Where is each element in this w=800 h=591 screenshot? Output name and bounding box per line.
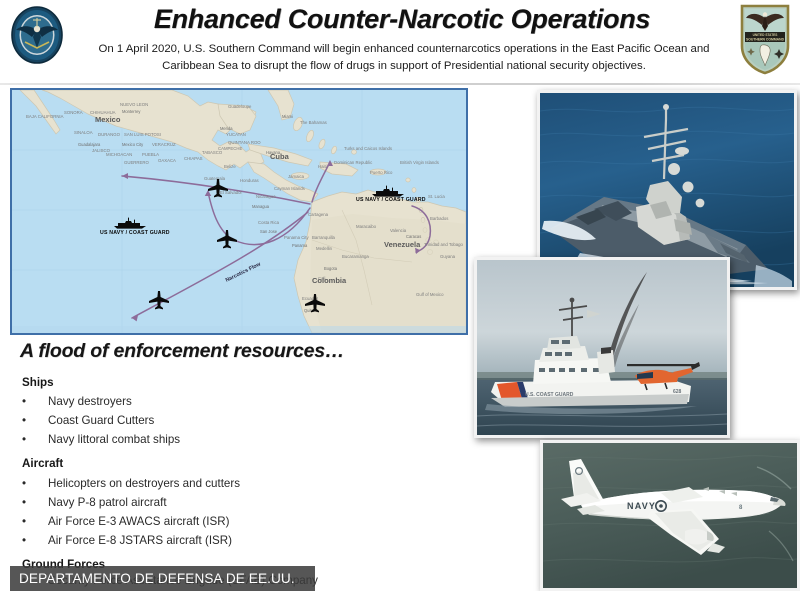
- list-item-label: Coast Guard Cutters: [48, 414, 154, 427]
- coast-guard-cutter-photo: U.S. COAST GUARD 628: [474, 257, 730, 438]
- operations-map[interactable]: Mexico Venezuela Colombia Cuba BAJA CALI…: [10, 88, 468, 335]
- subsection-heading-aircraft: Aircraft: [22, 457, 63, 470]
- svg-text:628: 628: [673, 389, 682, 395]
- aircraft-icon: [216, 229, 238, 254]
- section-heading-resources: A flood of enforcement resources…: [20, 340, 344, 363]
- bullet-marker: •: [22, 433, 48, 446]
- slide-header: UNITED STATES SOUTHERN COMMAND Enhanced …: [0, 0, 800, 84]
- slide-root: UNITED STATES SOUTHERN COMMAND Enhanced …: [0, 0, 800, 591]
- subsection-heading-ships: Ships: [22, 376, 54, 389]
- bullet-marker: •: [22, 515, 48, 528]
- page-title: Enhanced Counter-Narcotic Operations: [72, 4, 732, 35]
- caption-bar: DEPARTAMENTO DE DEFENSA DE EE.UU.: [10, 566, 315, 591]
- list-item-label: Helicopters on destroyers and cutters: [48, 477, 240, 490]
- map-geography: [12, 90, 466, 333]
- page-subtitle: On 1 April 2020, U.S. Southern Command w…: [74, 41, 734, 75]
- list-item-label: Navy littoral combat ships: [48, 433, 180, 446]
- bullet-marker: •: [22, 395, 48, 408]
- bullet-marker: •: [22, 496, 48, 509]
- list-item: •Air Force E-3 AWACS aircraft (ISR): [22, 515, 229, 528]
- map-unit-label: US NAVY / COAST GUARD: [356, 197, 426, 203]
- aircraft-icon: [304, 293, 326, 318]
- list-item: •Navy P-8 patrol aircraft: [22, 496, 167, 509]
- list-item-label: Air Force E-3 AWACS aircraft (ISR): [48, 515, 229, 528]
- list-item: •Air Force E-8 JSTARS aircraft (ISR): [22, 534, 232, 547]
- navy-p8-aircraft-photo: NAVY 8: [540, 440, 800, 591]
- department-of-defense-seal: [8, 4, 66, 66]
- bullet-marker: •: [22, 477, 48, 490]
- list-item-label: Air Force E-8 JSTARS aircraft (ISR): [48, 534, 232, 547]
- us-southern-command-seal: UNITED STATES SOUTHERN COMMAND: [738, 2, 792, 76]
- svg-text:SOUTHERN COMMAND: SOUTHERN COMMAND: [746, 37, 785, 41]
- list-item: •Coast Guard Cutters: [22, 414, 154, 427]
- list-item: •Navy littoral combat ships: [22, 433, 180, 446]
- header-divider: [0, 83, 800, 85]
- bullet-marker: •: [22, 414, 48, 427]
- list-item: •Navy destroyers: [22, 395, 132, 408]
- caption-text: DEPARTAMENTO DE DEFENSA DE EE.UU.: [19, 571, 295, 586]
- aircraft-icon: [148, 290, 170, 315]
- aircraft-icon: [110, 208, 130, 231]
- list-item-label: Navy P-8 patrol aircraft: [48, 496, 167, 509]
- list-item: •Helicopters on destroyers and cutters: [22, 477, 240, 490]
- bullet-marker: •: [22, 534, 48, 547]
- map-canvas: Mexico Venezuela Colombia Cuba BAJA CALI…: [12, 90, 466, 333]
- svg-text:U.S. COAST GUARD: U.S. COAST GUARD: [525, 392, 574, 398]
- list-item-label: Navy destroyers: [48, 395, 132, 408]
- aircraft-icon: [207, 178, 229, 203]
- svg-text:NAVY: NAVY: [627, 501, 656, 511]
